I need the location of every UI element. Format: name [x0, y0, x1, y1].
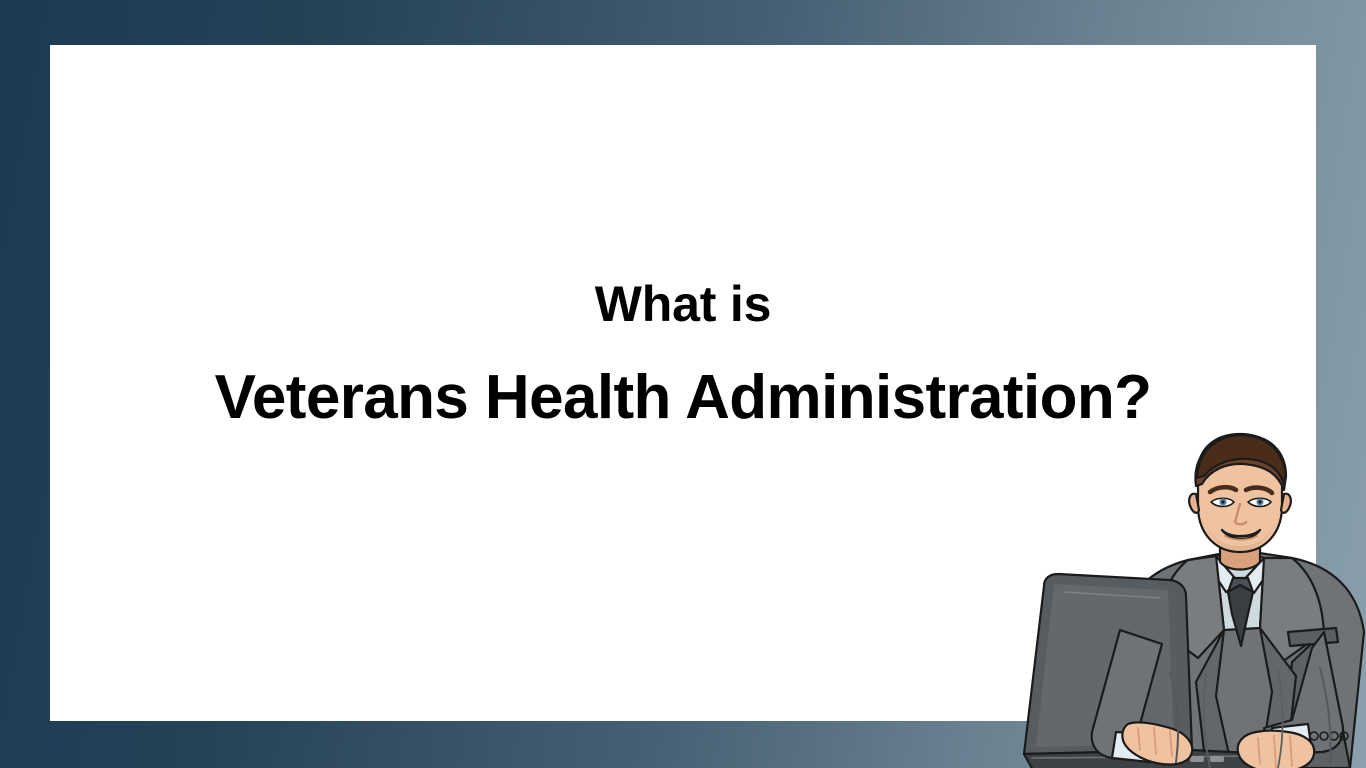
- title-line-2: Veterans Health Administration?: [50, 365, 1316, 430]
- title-line-1: What is: [50, 278, 1316, 331]
- slide: What is Veterans Health Administration?: [0, 0, 1366, 768]
- page-title: What is Veterans Health Administration?: [50, 278, 1316, 430]
